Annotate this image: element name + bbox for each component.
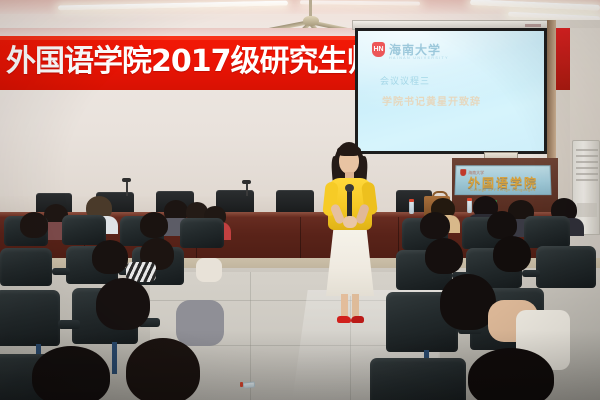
- seat-back: [62, 215, 106, 245]
- person-head: [32, 346, 110, 400]
- speaker-fringe: [337, 145, 361, 156]
- person-shoulders: [176, 300, 224, 346]
- podium-college-name-en: College of Foreign Languages: [456, 188, 551, 192]
- person-head: [96, 278, 150, 330]
- person-head: [126, 338, 200, 400]
- ac-vent: [576, 179, 598, 181]
- shield-icon: HN: [372, 42, 385, 57]
- bottle-cap: [467, 198, 472, 201]
- auditorium-seat: [370, 358, 466, 400]
- auditorium-seat: [0, 290, 60, 346]
- housing-label: [525, 24, 541, 27]
- seat-armrest: [522, 270, 540, 277]
- speaker-person: [322, 142, 378, 327]
- auditorium-seat: [536, 246, 596, 288]
- seat-leg: [112, 342, 117, 374]
- ac-vent: [576, 155, 598, 157]
- microphone-head: [122, 178, 131, 182]
- ac-control-panel: [577, 203, 597, 217]
- speaker-hands: [343, 216, 357, 228]
- ac-vent: [576, 161, 598, 163]
- person-arm: [196, 258, 222, 282]
- seat-back: [524, 216, 570, 248]
- person-head: [140, 212, 168, 238]
- fan-hub: [303, 16, 319, 26]
- seat-back: [0, 248, 52, 286]
- projected-slide: HN 海南大学 HAINAN UNIVERSITY 会议议程三 学院书记黄星开致…: [358, 31, 544, 151]
- water-bottle-icon: [467, 200, 472, 213]
- seat-back: [180, 218, 224, 248]
- microphone-icon: [347, 188, 352, 218]
- speaker-shoe: [351, 316, 364, 323]
- microphone-icon: [126, 180, 128, 196]
- event-banner: 外国语学院2017级研究生师生见: [0, 36, 356, 90]
- water-bottle-icon: [243, 381, 256, 388]
- person-head: [493, 236, 531, 272]
- auditorium-seat: [180, 218, 224, 248]
- person-head: [468, 348, 554, 400]
- lecture-hall-photo: 外国语学院2017级研究生师生见 HN 海南大学 HAINAN UNIVERSI…: [0, 0, 600, 400]
- seat-back: [536, 246, 596, 288]
- seat-armrest: [58, 320, 80, 329]
- banner-highlight: [0, 36, 356, 40]
- speaker-skirt: [326, 226, 374, 296]
- banner-right-fragment: [556, 28, 570, 90]
- seat-back: [370, 358, 466, 400]
- bottle-cap: [240, 382, 243, 387]
- banner-text: 外国语学院2017级研究生师生见: [6, 42, 356, 82]
- person-head: [420, 212, 450, 239]
- auditorium-seat: [0, 248, 52, 286]
- microphone-head: [345, 184, 354, 192]
- auditorium-seat: [524, 216, 570, 248]
- microphone-head: [242, 180, 251, 184]
- slide-agenda-item: 学院书记黄星开致辞: [382, 93, 481, 108]
- person-head: [487, 211, 517, 239]
- person-head: [92, 240, 128, 274]
- speaker-shoe: [337, 316, 351, 323]
- projection-screen: HN 海南大学 HAINAN UNIVERSITY 会议议程三 学院书记黄星开致…: [355, 28, 547, 154]
- podium-nameplate: 海南大学 外国语学院 College of Foreign Languages: [454, 165, 551, 195]
- water-bottle-icon: [409, 201, 414, 214]
- ac-vent: [576, 167, 598, 169]
- person-head: [20, 212, 48, 238]
- seat-armrest: [52, 268, 70, 275]
- bottle-cap: [409, 199, 414, 202]
- ac-vent: [576, 173, 598, 175]
- auditorium-seat: [62, 215, 106, 245]
- seat-back: [0, 290, 60, 346]
- person-head: [425, 238, 463, 274]
- slide-university-name-en: HAINAN UNIVERSITY: [389, 56, 449, 60]
- ac-vent: [576, 149, 598, 151]
- microphone-icon: [246, 182, 248, 196]
- slide-agenda-label: 会议议程三: [380, 74, 430, 87]
